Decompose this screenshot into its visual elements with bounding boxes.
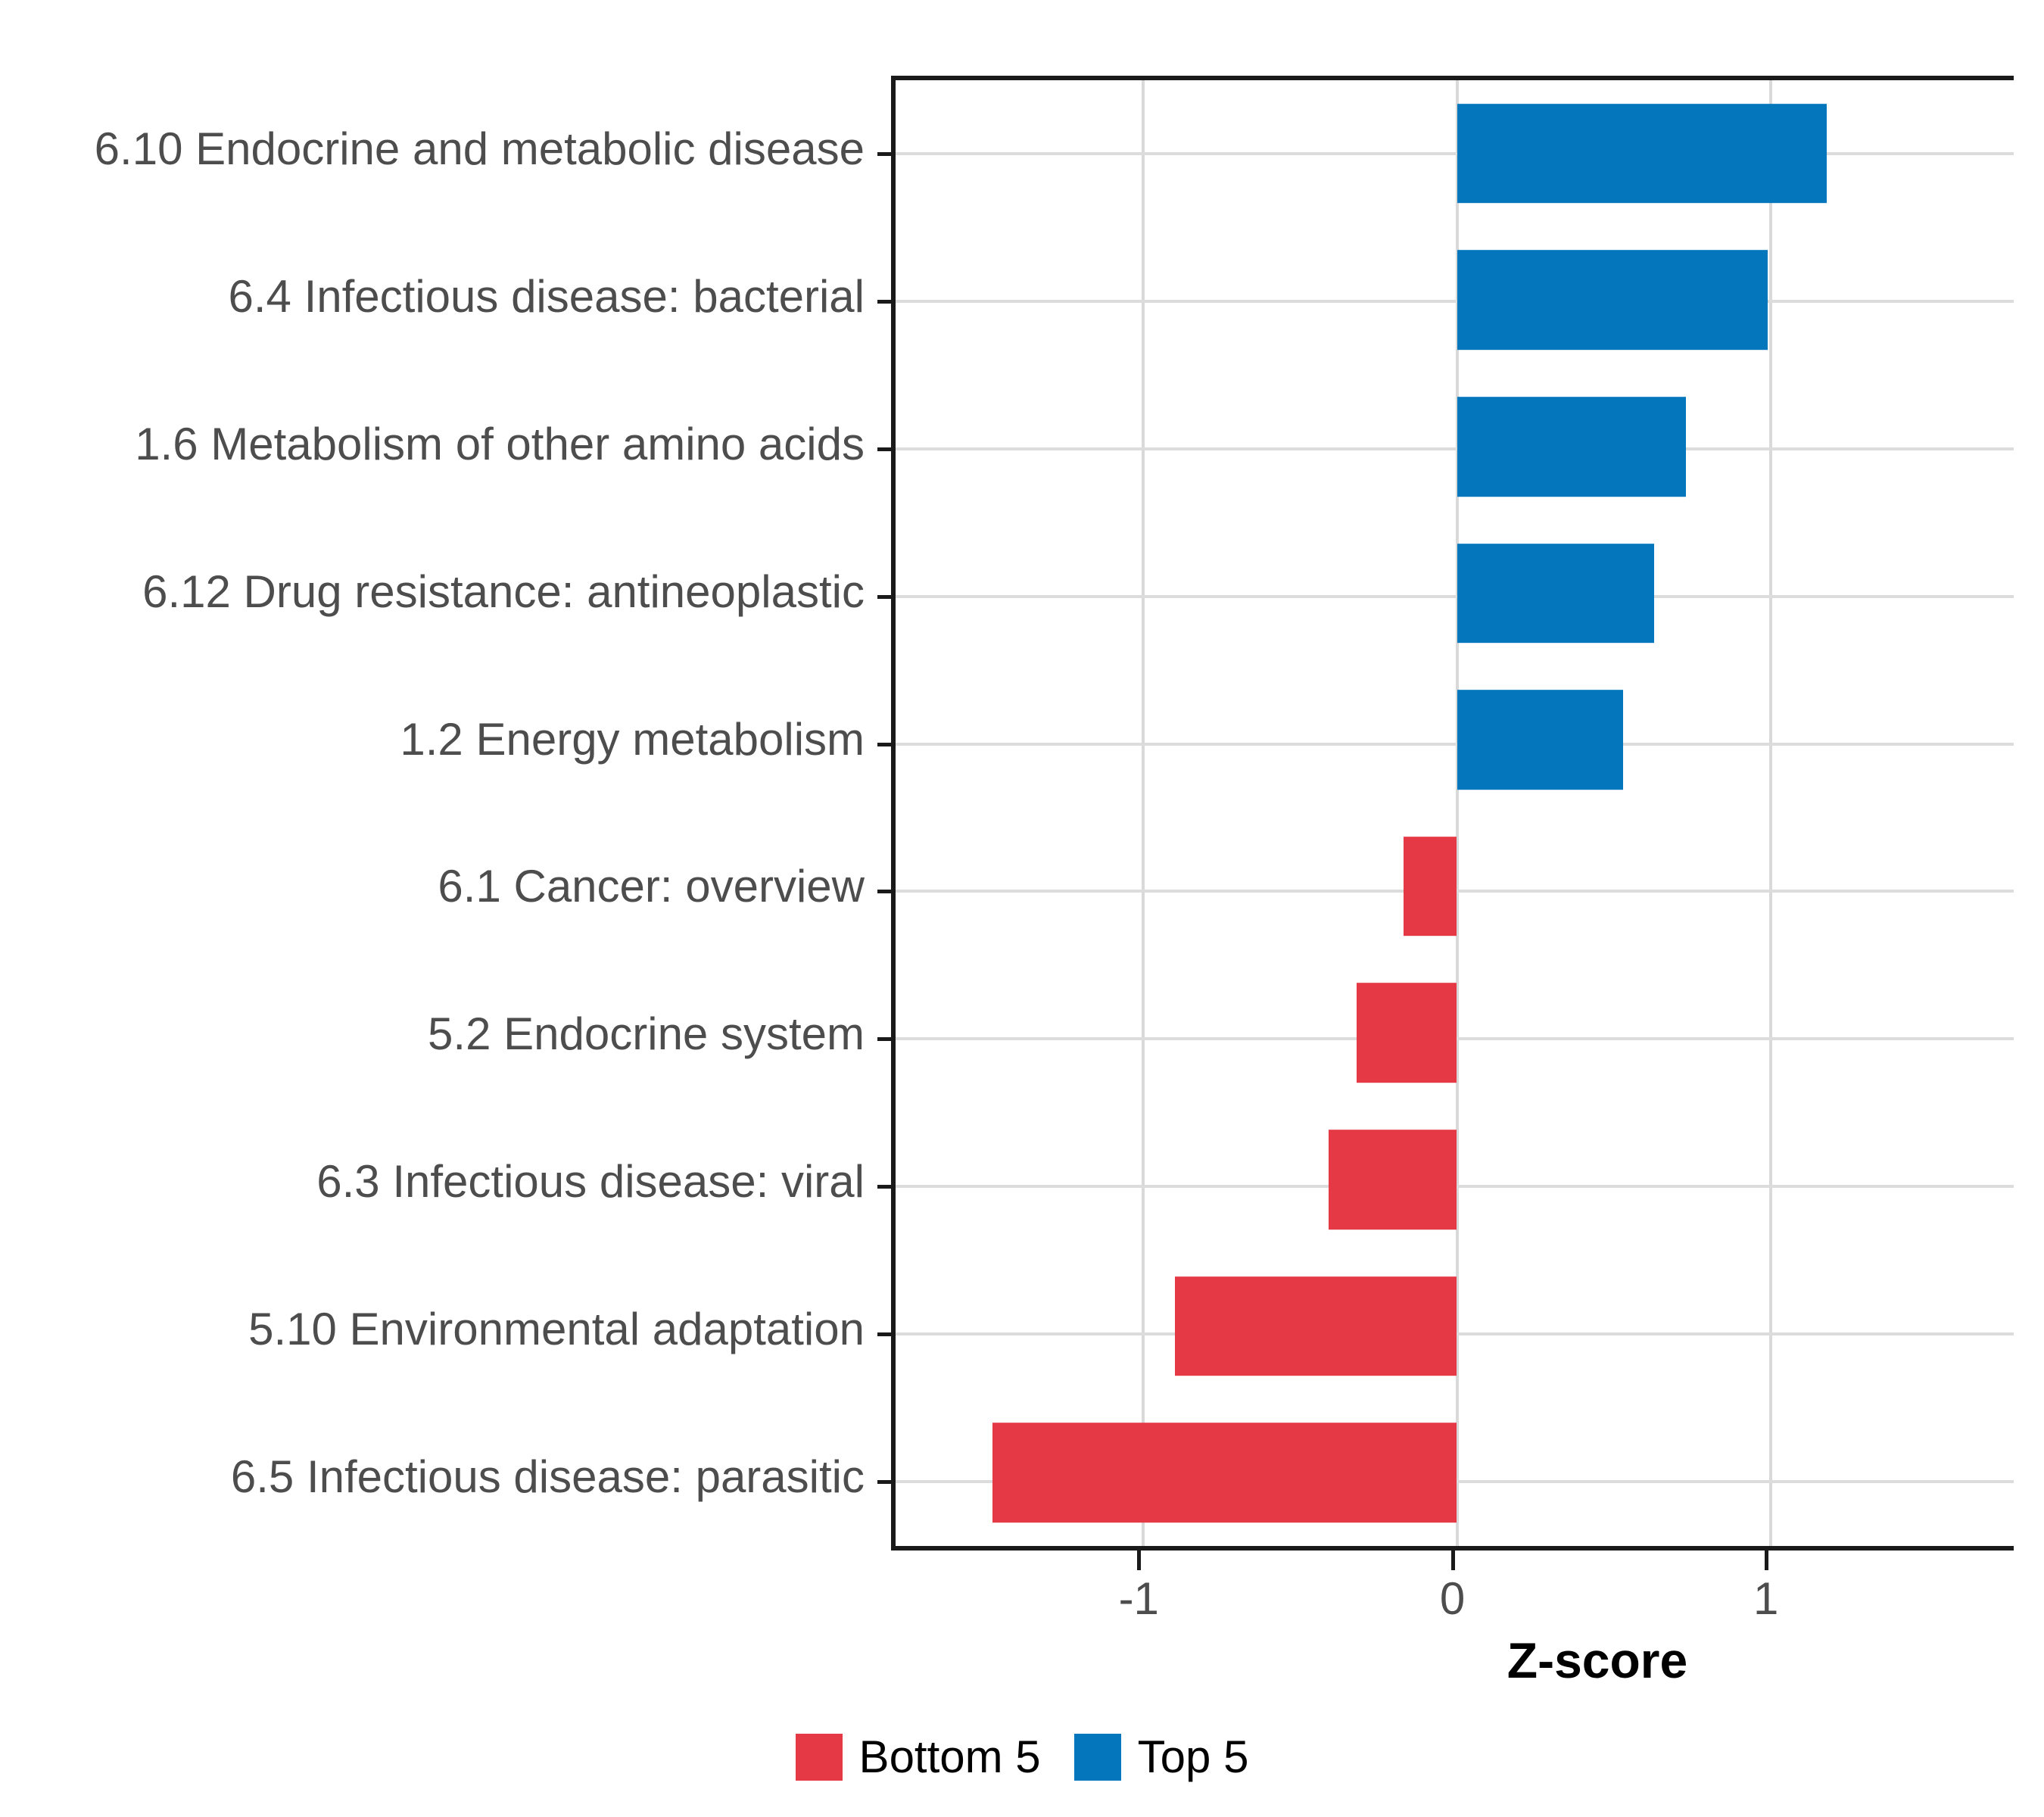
y-axis-tick xyxy=(877,890,896,893)
y-axis-tick xyxy=(877,1480,896,1484)
bar[interactable] xyxy=(992,1423,1457,1522)
legend: Bottom 5 Top 5 xyxy=(0,1734,2044,1781)
y-axis-tick-row: 5.10 Environmental adaptation xyxy=(0,1255,878,1403)
y-axis-tick-row: 6.3 Infectious disease: viral xyxy=(0,1108,878,1256)
y-axis-tick xyxy=(877,743,896,746)
y-axis-tick-row: 5.2 Endocrine system xyxy=(0,961,878,1108)
y-axis-tick xyxy=(877,152,896,156)
legend-swatch-top5 xyxy=(1074,1734,1121,1781)
y-axis-tick xyxy=(877,1332,896,1336)
x-axis-tick xyxy=(1137,1551,1141,1570)
bar[interactable] xyxy=(1457,397,1686,497)
legend-swatch-bottom5 xyxy=(796,1734,843,1781)
x-axis-title-text: Z-score xyxy=(1507,1635,1687,1685)
y-axis-label-column: 6.10 Endocrine and metabolic disease 6.4… xyxy=(0,76,878,1551)
x-axis-tick-label: -1 xyxy=(1119,1576,1159,1622)
bar-row xyxy=(896,1253,2014,1400)
bar[interactable] xyxy=(1457,544,1655,644)
legend-label-bottom5: Bottom 5 xyxy=(859,1734,1041,1780)
x-axis-title: Z-score xyxy=(0,1635,2044,1685)
y-axis-tick xyxy=(877,1185,896,1189)
y-axis-tick xyxy=(877,447,896,451)
bar-row xyxy=(896,227,2014,374)
y-axis-tick-label: 1.6 Metabolism of other amino acids xyxy=(135,422,865,467)
y-axis-tick-label: 5.2 Endocrine system xyxy=(428,1011,865,1057)
legend-item-top5[interactable]: Top 5 xyxy=(1074,1734,1249,1781)
legend-item-bottom5[interactable]: Bottom 5 xyxy=(796,1734,1041,1781)
legend-label-top5: Top 5 xyxy=(1138,1734,1249,1780)
y-axis-tick-row: 6.5 Infectious disease: parasitic xyxy=(0,1403,878,1551)
y-axis-tick-row: 6.4 Infectious disease: bacterial xyxy=(0,223,878,371)
y-axis-tick-label: 6.5 Infectious disease: parasitic xyxy=(231,1454,865,1500)
bar[interactable] xyxy=(1457,690,1624,790)
y-axis-tick-label: 5.10 Environmental adaptation xyxy=(248,1307,865,1352)
bar[interactable] xyxy=(1175,1276,1457,1376)
bar[interactable] xyxy=(1457,251,1768,351)
x-axis-tick-label: 0 xyxy=(1440,1576,1465,1622)
y-axis-tick-label: 1.2 Energy metabolism xyxy=(400,717,865,762)
y-axis-tick xyxy=(877,300,896,304)
bar-row xyxy=(896,1106,2014,1253)
bar-row xyxy=(896,1399,2014,1546)
bar[interactable] xyxy=(1357,983,1457,1083)
y-axis-tick-row: 1.2 Energy metabolism xyxy=(0,665,878,813)
y-axis-tick xyxy=(877,595,896,599)
bar[interactable] xyxy=(1404,837,1457,937)
y-axis-tick-row: 6.10 Endocrine and metabolic disease xyxy=(0,76,878,223)
bar-row xyxy=(896,373,2014,520)
x-axis-tick-label: 1 xyxy=(1753,1576,1778,1622)
x-axis-tick xyxy=(1451,1551,1455,1570)
y-axis-tick-label: 6.3 Infectious disease: viral xyxy=(316,1159,865,1205)
plot-panel xyxy=(891,76,2014,1551)
z-score-bar-chart: 6.10 Endocrine and metabolic disease 6.4… xyxy=(0,0,2044,1817)
bar[interactable] xyxy=(1457,104,1827,204)
plot-area xyxy=(896,80,2014,1546)
bar-row xyxy=(896,960,2014,1107)
bar-row xyxy=(896,80,2014,227)
bar-row xyxy=(896,520,2014,667)
x-axis-tick xyxy=(1765,1551,1768,1570)
y-axis-tick xyxy=(877,1037,896,1041)
bar[interactable] xyxy=(1329,1130,1457,1230)
y-axis-tick-label: 6.12 Drug resistance: antineoplastic xyxy=(142,569,865,615)
y-axis-tick-label: 6.1 Cancer: overview xyxy=(438,864,865,909)
bar-series-container xyxy=(896,80,2014,1546)
y-axis-tick-label: 6.4 Infectious disease: bacterial xyxy=(229,274,865,319)
bar-row xyxy=(896,813,2014,960)
y-axis-tick-row: 6.12 Drug resistance: antineoplastic xyxy=(0,518,878,665)
y-axis-tick-row: 6.1 Cancer: overview xyxy=(0,813,878,961)
y-axis-tick-row: 1.6 Metabolism of other amino acids xyxy=(0,371,878,519)
bar-row xyxy=(896,666,2014,813)
y-axis-tick-label: 6.10 Endocrine and metabolic disease xyxy=(95,126,865,172)
